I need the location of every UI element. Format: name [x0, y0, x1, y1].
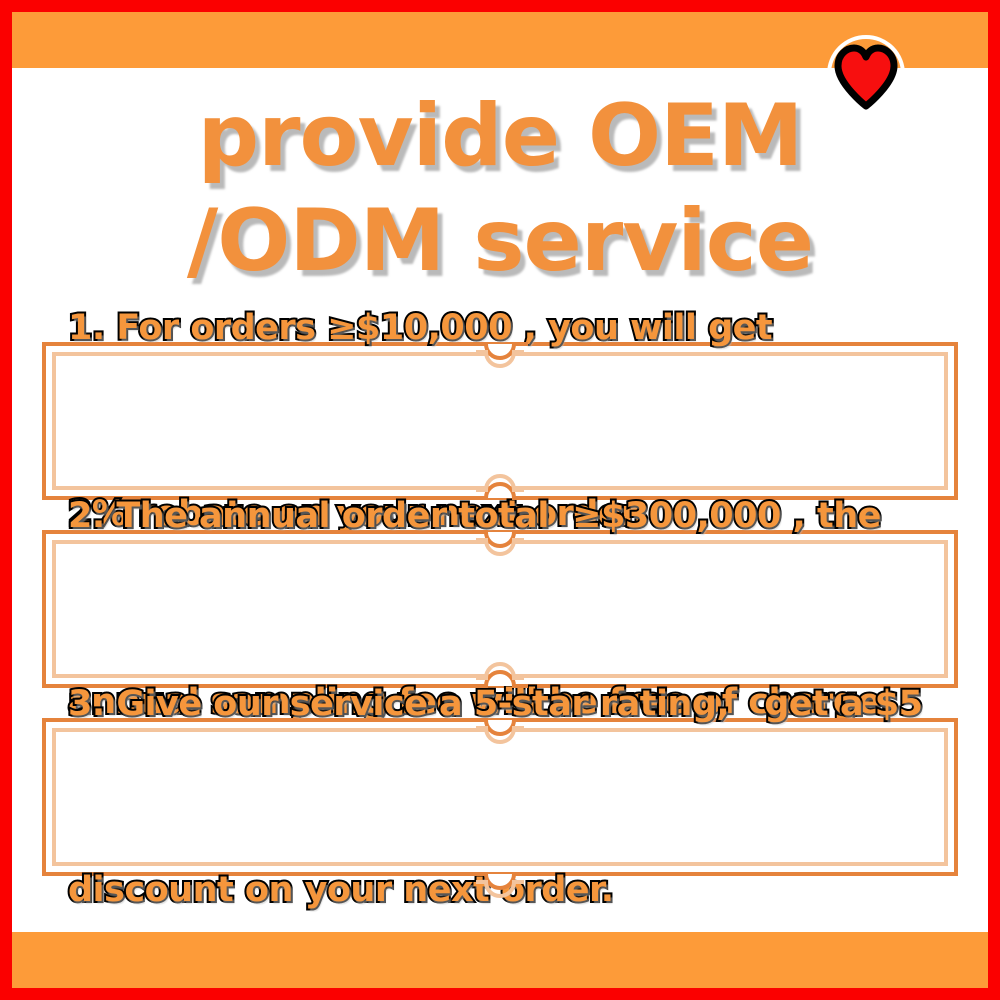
page-title: provide OEM /ODM service — [0, 84, 1000, 294]
heart-badge — [820, 22, 912, 114]
clause-1-line-1: 1. For orders ≥$10,000 , you will get — [68, 297, 938, 359]
clause-3-line-2: discount on your next order. — [68, 859, 938, 921]
clause-2-line-1: 2. The annual order total ≥$300,000 , th… — [68, 485, 938, 547]
clause-list: 1. For orders ≥$10,000 , you will get 2%… — [42, 342, 958, 876]
clause-3-line-1: 3. Give our service a 5-star rating, get… — [68, 673, 938, 735]
headline-line-2: /ODM service — [0, 189, 1000, 294]
clause-box-3: 3. Give our service a 5-star rating, get… — [42, 718, 958, 876]
heart-icon — [838, 48, 894, 106]
promo-poster: provide OEM /ODM service 1. For orders ≥… — [0, 0, 1000, 1000]
clause-text-3: 3. Give our service a 5-star rating, get… — [68, 549, 938, 1000]
